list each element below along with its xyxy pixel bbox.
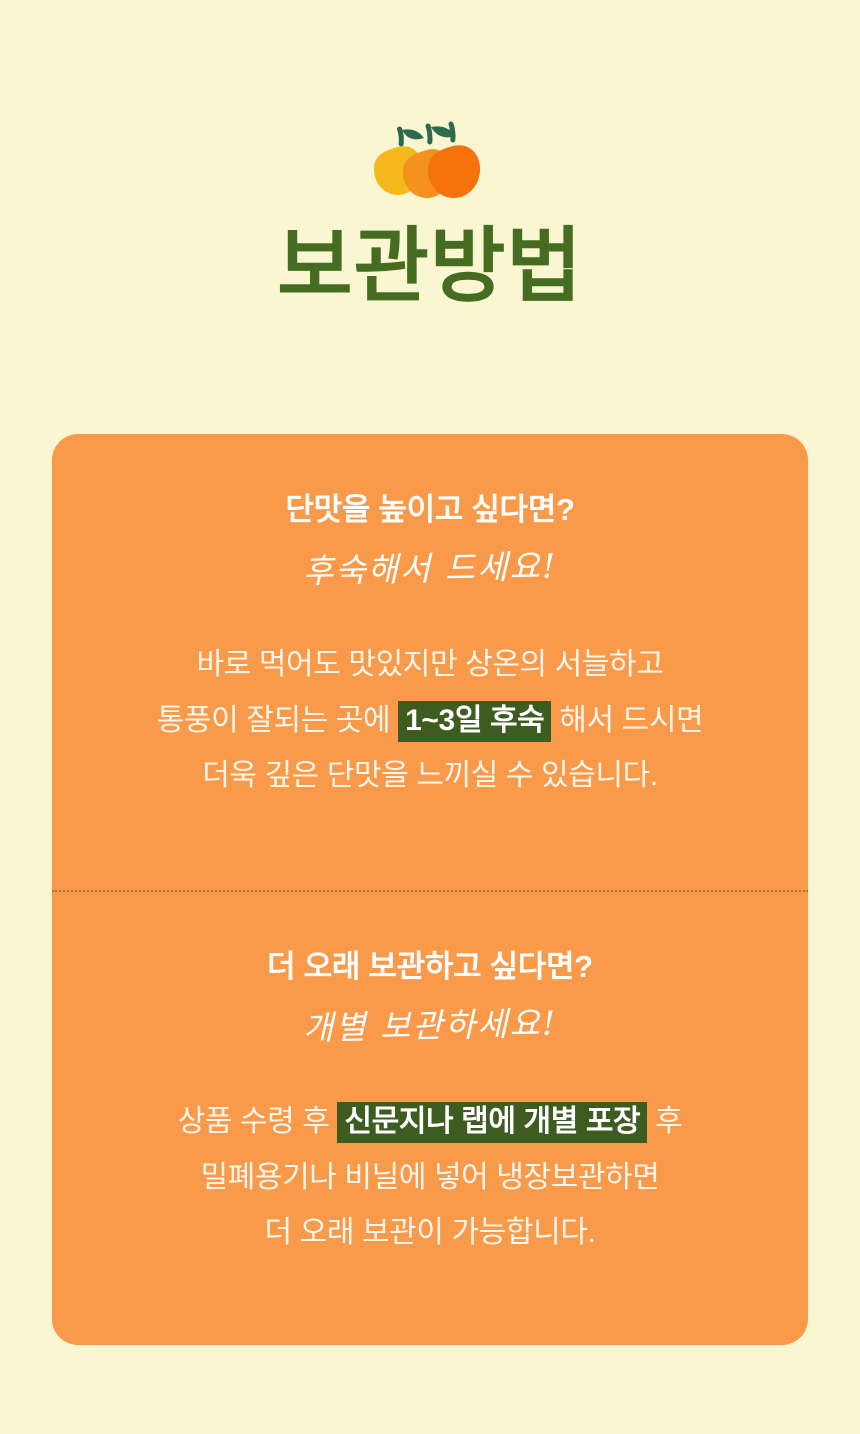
card-body-line: 상품 수령 후 신문지나 랩에 개별 포장 후 bbox=[52, 1094, 808, 1150]
stem-left-icon bbox=[400, 129, 402, 144]
body-text-run: 후 bbox=[647, 1105, 682, 1138]
card-script-subtitle: 후숙해서 드세요! bbox=[52, 540, 809, 599]
tangerine-trio-icon bbox=[0, 112, 860, 204]
storage-guide-page: 보관방법 단맛을 높이고 싶다면? 후숙해서 드세요! 바로 먹어도 맛있지만 … bbox=[0, 0, 860, 1434]
page-title: 보관방법 bbox=[0, 222, 860, 312]
card-body-line: 더욱 깊은 단맛을 느끼실 수 있습니다. bbox=[52, 748, 808, 804]
card-body-line: 바로 먹어도 맛있지만 상온의 서늘하고 bbox=[52, 637, 808, 693]
highlighted-phrase: 신문지나 랩에 개별 포장 bbox=[337, 1102, 647, 1143]
card-divider bbox=[52, 890, 808, 894]
body-text-run: 해서 드시면 bbox=[551, 704, 703, 737]
card-body-line: 통풍이 잘되는 곳에 1~3일 후숙 해서 드시면 bbox=[52, 693, 808, 749]
body-text-run: 밀폐용기나 비닐에 넣어 냉장보관하면 bbox=[200, 1161, 659, 1194]
storage-tip-card-longterm: 더 오래 보관하고 싶다면? 개별 보관하세요! 상품 수령 후 신문지나 랩에… bbox=[52, 891, 808, 1345]
card-heading: 더 오래 보관하고 싶다면? bbox=[52, 947, 808, 987]
storage-tip-card-sweetness: 단맛을 높이고 싶다면? 후숙해서 드세요! 바로 먹어도 맛있지만 상온의 서… bbox=[52, 434, 808, 891]
body-text-run: 상품 수령 후 bbox=[178, 1105, 338, 1138]
body-text-run: 통풍이 잘되는 곳에 bbox=[157, 704, 398, 737]
card-body: 바로 먹어도 맛있지만 상온의 서늘하고통풍이 잘되는 곳에 1~3일 후숙 해… bbox=[52, 637, 808, 804]
card-body-line: 더 오래 보관이 가능합니다. bbox=[52, 1205, 808, 1261]
tangerine-trio-svg bbox=[371, 115, 489, 201]
body-text-run: 더욱 깊은 단맛을 느끼실 수 있습니다. bbox=[202, 759, 658, 792]
stem-middle-icon bbox=[428, 126, 430, 142]
leaf-left-icon bbox=[402, 129, 424, 139]
card-script-subtitle: 개별 보관하세요! bbox=[52, 997, 809, 1056]
body-text-run: 더 오래 보관이 가능합니다. bbox=[265, 1216, 596, 1249]
body-text-run: 바로 먹어도 맛있지만 상온의 서늘하고 bbox=[197, 648, 664, 681]
highlighted-phrase: 1~3일 후숙 bbox=[398, 701, 551, 742]
card-body: 상품 수령 후 신문지나 랩에 개별 포장 후밀폐용기나 비닐에 넣어 냉장보관… bbox=[52, 1094, 808, 1261]
card-heading: 단맛을 높이고 싶다면? bbox=[52, 490, 808, 530]
card-body-line: 밀폐용기나 비닐에 넣어 냉장보관하면 bbox=[52, 1150, 808, 1206]
